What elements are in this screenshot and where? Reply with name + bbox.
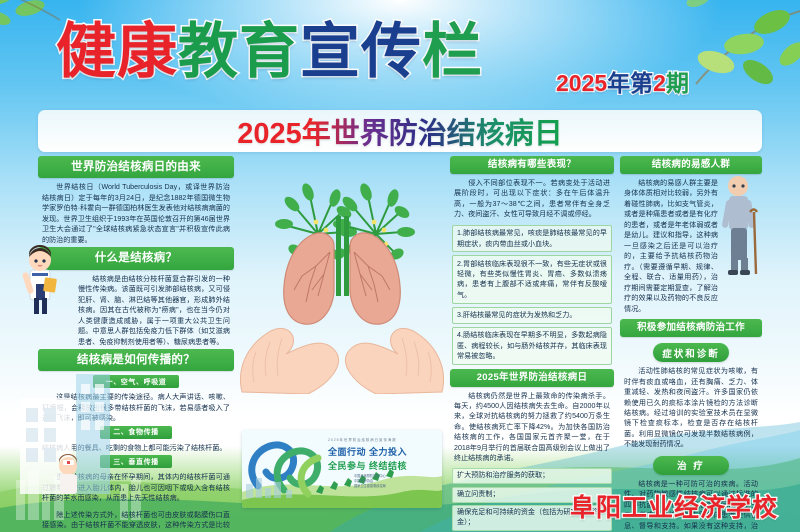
column-3: 结核病有哪些表现？ 侵入不同部位表现不一。若病变处于活动进展阶段时，可出现以下症… [450,156,614,508]
subsection-label-treatment: 治 疗 [653,456,729,475]
section-title-what-is-tb: 什么是结核病？ [38,247,234,269]
title-char-1: 健 [56,22,117,82]
section-title-symptoms: 结核病有哪些表现？ [450,156,614,174]
transmission-item-2-body: 结核病人用的餐具、吃剩的食物上都可能污染了结核杆菌。 [38,439,234,455]
title-char-5: 宣 [300,22,361,82]
symptoms-diagnosis-body: 活动性肺结核的常见症状为咳嗽，有时伴有痰血或咯血，还有胸痛、乏力、体重减轻、发热… [620,362,762,452]
symptom-item: 2.胃部结核临床表现很不一致，有些无症状或很轻微，有些类似慢性胃炎、胃癌、多数似… [452,255,612,303]
page-title: 健康教育宣传栏 [56,22,483,82]
section-body-what-is-tb: 结核病是由结核分枝杆菌复合群引发的一种慢性传染病。该菌既可引发肺部结核病，又可侵… [38,270,234,349]
campaign-sub-lines: 中国疾病预防控制中心 中国防痨协会 国家卫生健康委疾控局 [354,474,386,489]
issue-year-unit: 年第 [607,70,653,96]
column-2: 2025年世界防治结核病日宣传海报 全面行动 全力投入 全民参与 终结结核 中国… [240,156,444,508]
transmission-item-2-label: 二、食物传播 [100,426,172,439]
susceptible-groups-body: 结核病的易感人群主要是身体体质相对比较弱，另外有着碰性肺病，比如支气管炎，或者是… [620,174,762,316]
world-tb-day-body: 结核病仍然是世界上最致命的传染病杀手。每天，约4500人因结核病失去生命。自20… [450,387,614,466]
health-education-poster: 健康教育宣传栏 2025年第2期 2025年世界防治结核病日 [0,0,800,532]
poster-header: 健康教育宣传栏 2025年第2期 [0,0,800,112]
campaign-poster-image: 2025年世界防治结核病日宣传海报 全面行动 全力投入 全民参与 终结结核 中国… [242,430,442,508]
symptom-item: 1.肺部结核病最常见，咳痰是肺结核最常见的早期症状，痰内带血丝或小血块。 [452,225,612,253]
lungs-with-green-tree-and-hands-icon [240,156,444,394]
lungs-illustration [240,156,444,394]
commitment-item: 扩大预防和治疗服务的获取； [452,468,612,484]
section-title-participate: 积极参加结核病防治工作 [620,319,762,337]
title-char-3: 教 [178,22,239,82]
transmission-item-1-body: 这是结核病最主要的传染途径。病人大声讲话、咳嗽、打喷嚏，会释放出很多带结核杆菌的… [38,388,234,425]
title-char-6: 传 [361,22,422,82]
transmission-item-3-label: 三、垂直传播 [100,455,172,468]
transmission-closing: 除上述传染方式外，结核杆菌也可由皮肤或黏膜伤口直接感染。由于结核杆菌不能穿透皮肤… [38,506,234,532]
issue-year: 2025 [556,70,607,96]
transmission-item-3-body: 患有结核病的母亲在怀孕期间，其体内的结核杆菌可通过脐带血液进入胎儿体内，胎儿也可… [38,468,234,505]
campaign-tiny-line: 2025年世界防治结核病日宣传海报 [328,437,397,442]
footer-school-name: 阜阳工业经济学校 [570,488,778,524]
leaf-branch-icon [654,0,800,122]
section-title-world-tb-day-2025: 2025年世界防治结核病日 [450,369,614,387]
subsection-label-symptoms-diagnosis: 症状和诊断 [653,343,729,362]
section-body-origin: 世界结核日（World Tuberculosis Day，或译世界防治结核病日）… [38,178,234,247]
lung-right [350,233,400,324]
symptoms-intro: 侵入不同部位表现不一。若病变处于活动进展阶段时，可出现以下症状：多在午后体温升高… [450,174,614,222]
column-4: 结核病的易感人群 结核病的易感人群主要是身体体质相对比较弱，另外有着碰性肺病，比… [620,156,762,508]
section-title-susceptible-groups: 结核病的易感人群 [620,156,762,174]
section-title-origin: 世界防治结核病日的由来 [38,156,234,178]
transmission-item-1-label: 一、空气、呼吸道 [93,375,179,388]
title-char-4: 育 [239,22,300,82]
campaign-slogan-line-2: 全民参与 终结结核 [328,460,407,474]
title-char-7: 栏 [422,22,483,82]
campaign-slogan-line-1: 全面行动 全力投入 [328,446,407,460]
section-title-transmission: 结核病是如何传播的？ [38,349,234,371]
poster-content: 世界防治结核病日的由来 世界结核日（World Tuberculosis Day… [38,156,762,508]
cupped-hands-icon [240,328,443,394]
subtitle-banner: 2025年世界防治结核病日 [38,110,762,152]
subtitle-text: 2025年世界防治结核病日 [237,110,563,152]
title-char-2: 康 [117,22,178,82]
symptom-item: 3.肝结核最常见的症状为发热和乏力。 [452,307,612,324]
column-1: 世界防治结核病日的由来 世界结核日（World Tuberculosis Day… [38,156,234,508]
symptom-item: 4.肠结核临床表现在早期多不明显，多数起病隐匿、病程较长，如与肠外结核并存，其临… [452,327,612,365]
